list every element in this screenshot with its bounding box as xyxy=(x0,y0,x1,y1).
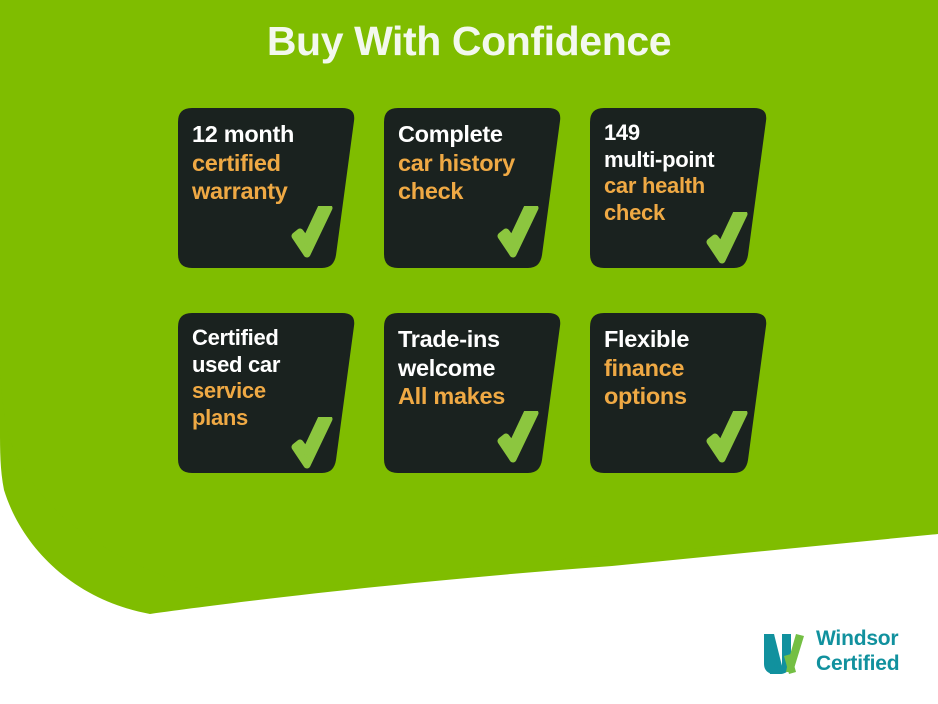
check-icon xyxy=(497,206,541,262)
benefit-card: 149 multi-point car health check xyxy=(590,108,768,268)
benefit-card: Trade-ins welcome All makes xyxy=(384,313,562,473)
brand-logo: Windsor Certified xyxy=(760,626,912,682)
card-line: 149 xyxy=(604,120,750,147)
benefit-card: Complete car history check xyxy=(384,108,562,268)
benefit-card: 12 month certified warranty xyxy=(178,108,356,268)
card-line: used car xyxy=(192,352,338,379)
card-text: 12 month certified warranty xyxy=(192,120,338,206)
card-line: service xyxy=(192,378,338,405)
check-icon xyxy=(497,411,541,467)
promo-banner: Buy With Confidence 12 month certified w… xyxy=(0,0,938,704)
card-line: welcome xyxy=(398,354,544,383)
card-line: car health xyxy=(604,173,750,200)
card-line: 12 month xyxy=(192,120,338,149)
card-line: check xyxy=(398,177,544,206)
card-line: certified xyxy=(192,149,338,178)
benefit-card: Certified used car service plans xyxy=(178,313,356,473)
card-text: Flexible finance options xyxy=(604,325,750,411)
card-text: Certified used car service plans xyxy=(192,325,338,431)
check-icon xyxy=(291,417,335,473)
card-line: options xyxy=(604,382,750,411)
card-text: 149 multi-point car health check xyxy=(604,120,750,226)
card-line: All makes xyxy=(398,382,544,411)
card-line: Complete xyxy=(398,120,544,149)
check-icon xyxy=(706,411,750,467)
page-title: Buy With Confidence xyxy=(0,16,938,66)
benefit-card: Flexible finance options xyxy=(590,313,768,473)
card-line: Flexible xyxy=(604,325,750,354)
card-text: Complete car history check xyxy=(398,120,544,206)
card-line: warranty xyxy=(192,177,338,206)
benefit-card-grid: 12 month certified warranty Complete car… xyxy=(178,108,778,478)
card-line: finance xyxy=(604,354,750,383)
card-line: Trade-ins xyxy=(398,325,544,354)
brand-name-line2: Certified xyxy=(816,651,899,676)
check-icon xyxy=(291,206,335,262)
card-line: Certified xyxy=(192,325,338,352)
card-line: multi-point xyxy=(604,147,750,174)
brand-name-line1: Windsor xyxy=(816,626,899,651)
windsor-w-mark-icon xyxy=(760,628,810,678)
card-line: car history xyxy=(398,149,544,178)
card-text: Trade-ins welcome All makes xyxy=(398,325,544,411)
check-icon xyxy=(706,212,750,268)
brand-logo-text: Windsor Certified xyxy=(816,626,899,676)
